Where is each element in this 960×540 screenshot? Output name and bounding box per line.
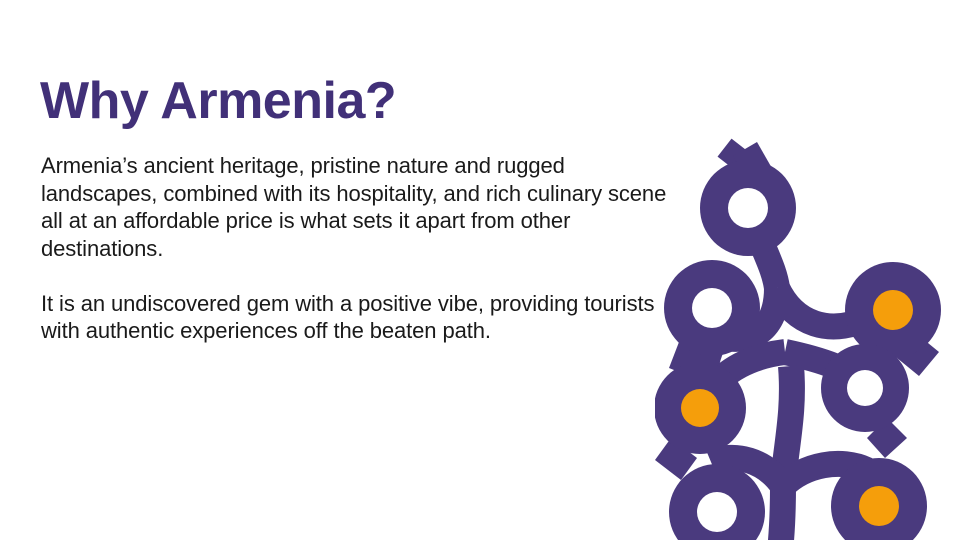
page-title: Why Armenia? bbox=[40, 72, 396, 132]
slide-canvas: Why Armenia? Armenia’s ancient heritage,… bbox=[0, 0, 960, 540]
fruit-middle-right bbox=[821, 344, 909, 458]
fruit-center-filled bbox=[859, 486, 899, 526]
fruit-center-filled bbox=[681, 389, 719, 427]
body-copy: Armenia’s ancient heritage, pristine nat… bbox=[41, 152, 681, 345]
fruit-center-hollow bbox=[728, 188, 768, 228]
paragraph-2: It is an undiscovered gem with a positiv… bbox=[41, 290, 681, 345]
fruit-center-hollow bbox=[692, 288, 732, 328]
pomegranate-branch-motif bbox=[655, 120, 945, 540]
fruit-center-hollow bbox=[847, 370, 883, 406]
fruit-center-filled bbox=[873, 290, 913, 330]
paragraph-1: Armenia’s ancient heritage, pristine nat… bbox=[41, 152, 681, 262]
fruit-upper-center bbox=[700, 142, 796, 256]
fruit-center-hollow bbox=[697, 492, 737, 532]
